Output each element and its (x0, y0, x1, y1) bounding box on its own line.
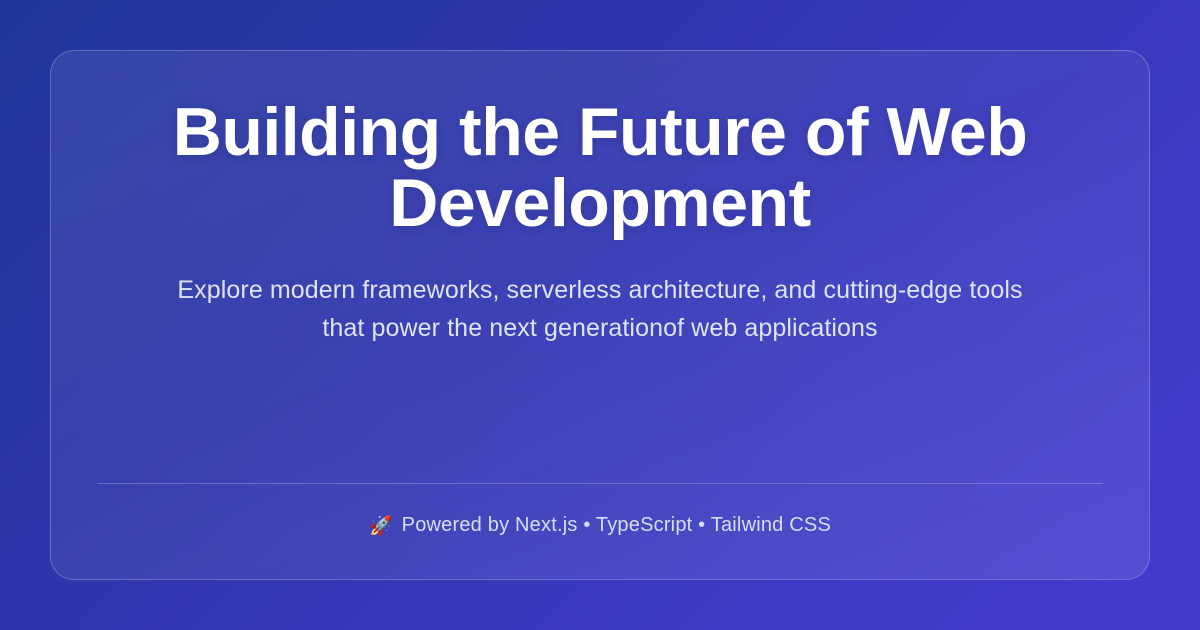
footer-tech-stack: Powered by Next.js • TypeScript • Tailwi… (402, 514, 831, 537)
rocket-icon: 🚀 (369, 517, 393, 536)
og-card: Building the Future of Web Development E… (50, 50, 1150, 580)
page-title: Building the Future of Web Development (160, 97, 1040, 238)
page-subtitle: Explore modern frameworks, serverless ar… (165, 272, 1035, 347)
footer: 🚀 Powered by Next.js • TypeScript • Tail… (97, 483, 1103, 537)
